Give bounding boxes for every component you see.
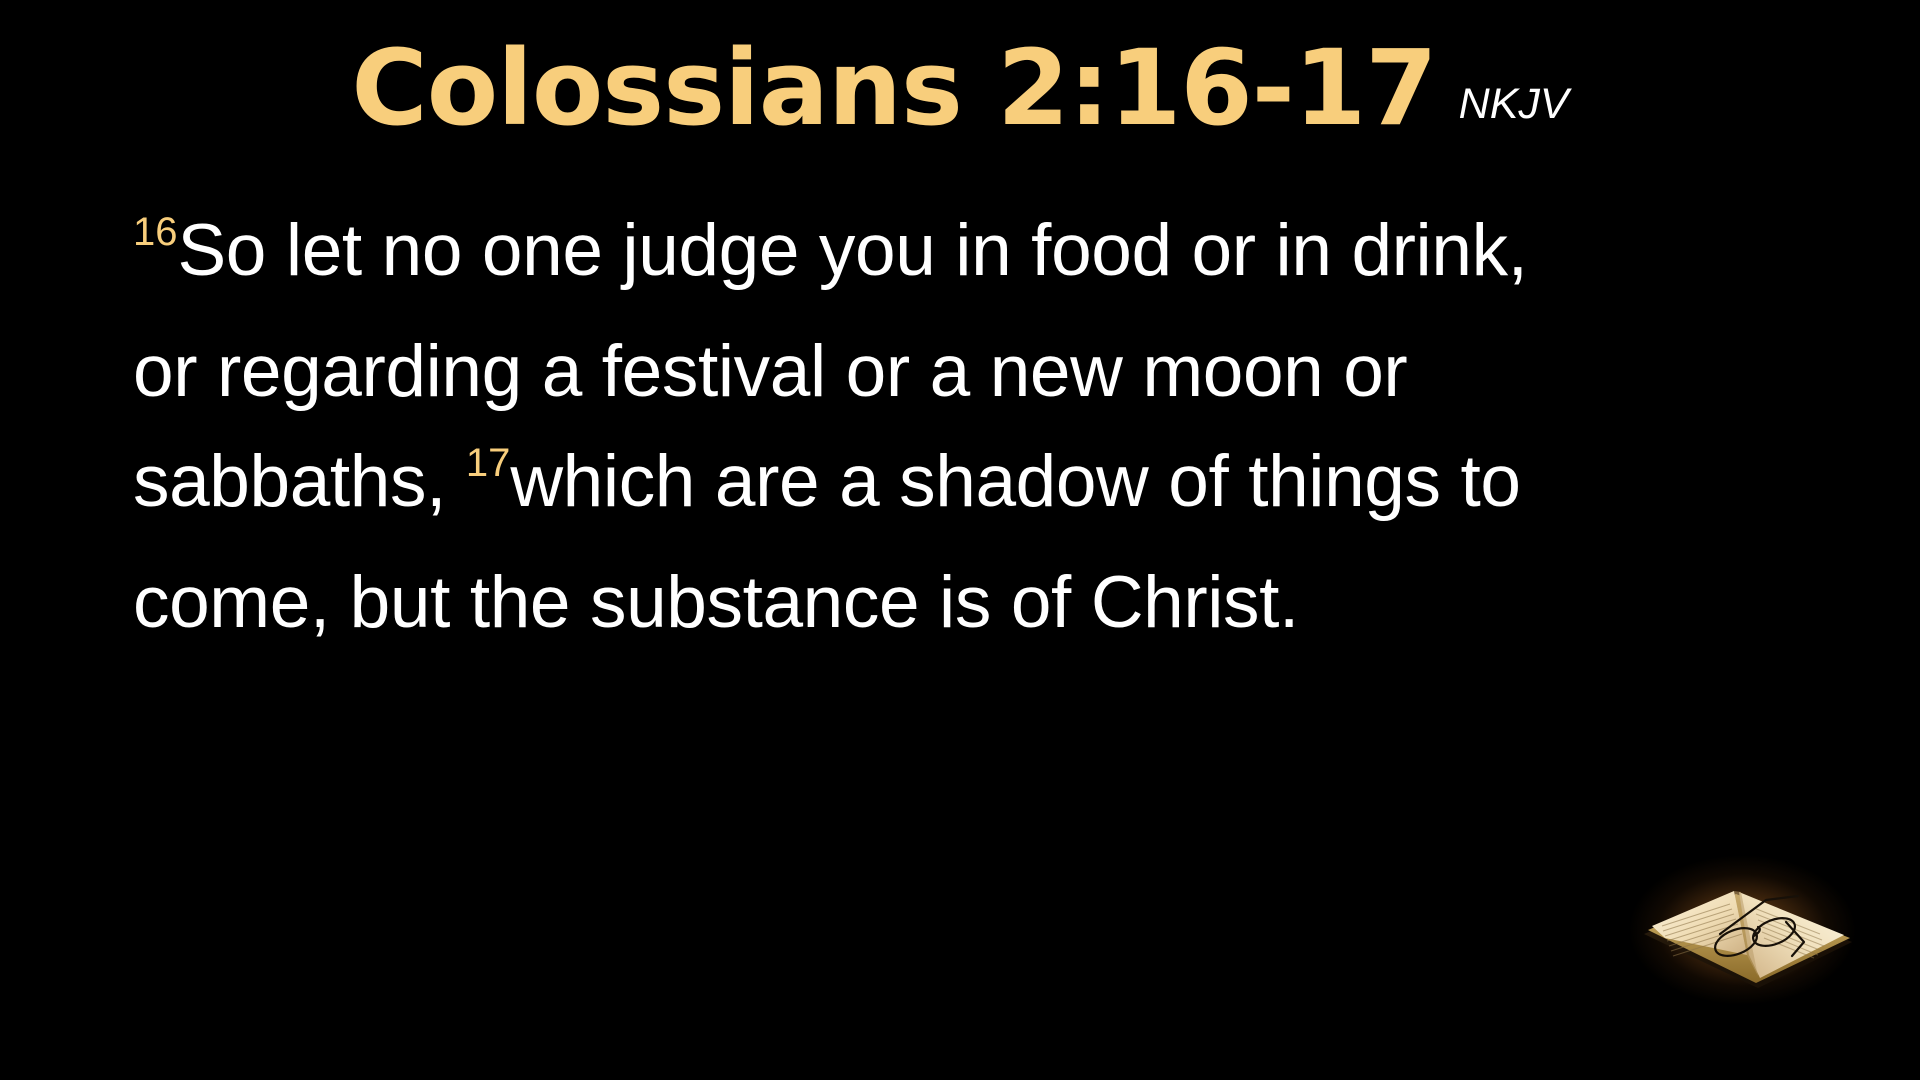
verse-number-17: 17 [466, 441, 511, 485]
verse-number-16: 16 [133, 210, 178, 254]
slide-title: Colossians 2:16-17NKJV [0, 36, 1920, 140]
open-bible-with-glasses-icon [1608, 838, 1888, 1038]
bible-version-label: NKJV [1459, 80, 1569, 128]
scripture-slide: Colossians 2:16-17NKJV 16So let no one j… [0, 0, 1920, 1080]
bible-illustration [1608, 838, 1888, 1038]
scripture-reference: Colossians 2:16-17 [351, 27, 1436, 149]
scripture-text: 16So let no one judge you in food or in … [133, 196, 1533, 658]
